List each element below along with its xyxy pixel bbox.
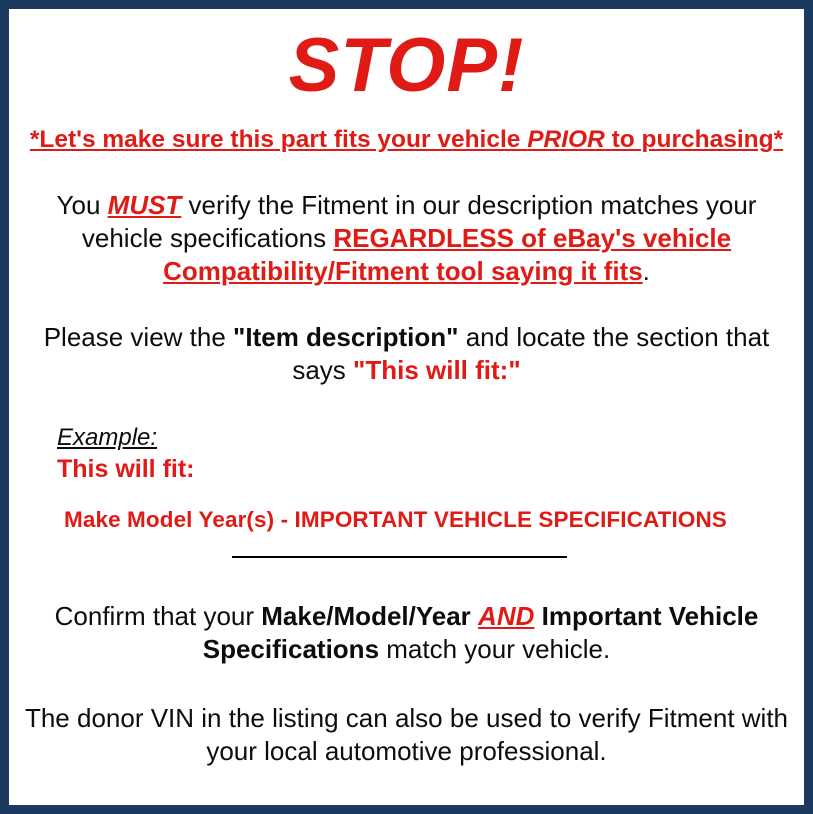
example-this-will-fit-heading: This will fit: [57, 453, 794, 485]
example-label: Example: [57, 423, 157, 453]
item-description-paragraph: Please view the "Item description" and l… [19, 288, 794, 387]
confirm-paragraph: Confirm that your Make/Model/Year AND Im… [19, 570, 794, 666]
example-label-row: Example: [57, 423, 794, 453]
fitment-notice-frame: STOP! *Let's make sure this part fits yo… [0, 0, 813, 814]
thank-you-line: Thank you for confirming Fitment! [19, 768, 794, 814]
must-emphasis: MUST [108, 190, 182, 220]
item-description-quote: "Item description" [233, 322, 458, 352]
subtitle-emphasis-prior: PRIOR [527, 126, 605, 153]
confirm-tail: match your vehicle. [379, 634, 610, 664]
subtitle-part-1: *Let's make sure this part fits your veh… [30, 126, 527, 153]
subtitle-part-2: to purchasing* [605, 126, 783, 153]
item-description-lead: Please view the [44, 322, 233, 352]
must-paragraph-lead: You [57, 190, 108, 220]
subtitle-banner: *Let's make sure this part fits your veh… [19, 111, 794, 155]
donor-vin-paragraph: The donor VIN in the listing can also be… [19, 666, 794, 768]
must-paragraph-period: . [643, 256, 650, 286]
example-spec-line: Make Model Year(s) - IMPORTANT VEHICLE S… [57, 485, 794, 534]
section-divider [232, 556, 567, 558]
and-emphasis: AND [478, 601, 534, 631]
fitment-notice-body: STOP! *Let's make sure this part fits yo… [9, 9, 804, 805]
this-will-fit-quote: "This will fit:" [353, 355, 521, 385]
divider-wrapper [19, 534, 794, 570]
stop-headline: STOP! [19, 9, 794, 111]
make-model-year-emphasis: Make/Model/Year [261, 601, 471, 631]
confirm-lead: Confirm that your [55, 601, 262, 631]
example-block: Example: This will fit: Make Model Year(… [19, 387, 794, 534]
must-verify-paragraph: You MUST verify the Fitment in our descr… [19, 155, 794, 288]
